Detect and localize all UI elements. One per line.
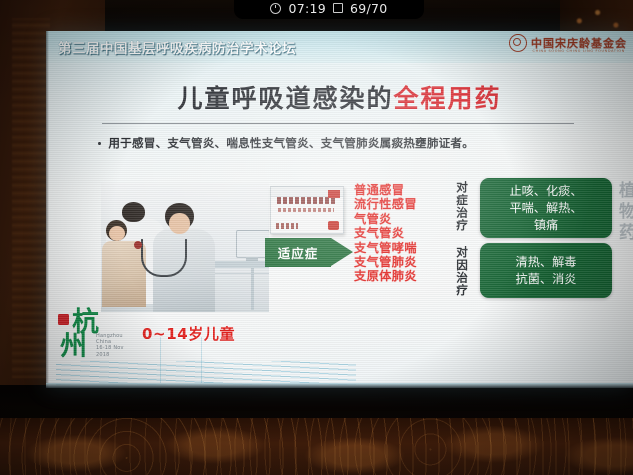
photo-parent-head — [122, 202, 145, 222]
osd-page-counter: 69/70 — [350, 1, 388, 16]
bullet-text: 用于感冒、支气管炎、喘息性支气管炎、支气管肺炎属痰热壅肺证者。 — [108, 135, 474, 151]
indication-arrow: 适应症 — [265, 238, 353, 267]
photo-desk-leg — [251, 268, 254, 310]
causal-treatment-label: 对因治疗 — [456, 246, 468, 306]
age-range-label: 0~14岁儿童 — [142, 323, 235, 344]
screen-bottom-edge — [46, 383, 633, 388]
stethoscope-icon — [141, 239, 187, 277]
list-item: 普通感冒 — [354, 183, 458, 197]
hangzhou-logo-en: Hangzhou China 16-18 Nov 2018 — [96, 333, 124, 358]
disease-list: 普通感冒 流行性感冒 气管炎 支气管炎 支气管哮喘 支气管肺炎 支原体肺炎 — [354, 183, 458, 284]
slide-title-black: 儿童呼吸道感染的 — [177, 84, 393, 113]
arrow-right-icon — [331, 238, 353, 266]
stethoscope-bell-icon — [134, 241, 142, 249]
indication-arrow-label: 适应症 — [265, 238, 331, 267]
red-seal-icon — [58, 314, 69, 325]
photo-doctor-face — [169, 213, 190, 234]
hangzhou-logo: 杭 州 Hangzhou China 16-18 Nov 2018 — [56, 313, 130, 369]
medicine-box-icon — [270, 186, 344, 234]
sponsor-logo: 中国宋庆龄基金会 CHINA SOONG CHING LING FOUNDATI… — [509, 34, 627, 52]
treatment-line: 平喘、解热、 — [509, 200, 582, 217]
osd-time: 07:19 — [288, 1, 326, 16]
causal-treatment-box: 清热、解毒 抗菌、消炎 — [480, 243, 612, 298]
slide-watermark: 植物药 — [613, 181, 633, 244]
medicine-box-accent-1 — [328, 190, 340, 198]
hangzhou-en-line: 2018 — [96, 352, 124, 358]
title-divider — [102, 123, 574, 124]
bullet-dot-icon — [98, 142, 101, 145]
medicine-box-name-text — [277, 197, 337, 204]
list-item: 流行性感冒 — [354, 197, 458, 211]
wall-left-texture — [12, 18, 50, 378]
slide-title-red: 全程用药 — [394, 84, 502, 113]
slide-title: 儿童呼吸道感染的全程用药 — [46, 79, 633, 115]
list-item: 支气管炎 — [354, 226, 458, 240]
medicine-box-brand — [276, 223, 298, 229]
clock-icon — [270, 3, 281, 14]
page-icon — [333, 3, 343, 13]
medicine-box-accent-2 — [328, 221, 339, 230]
carpet-pattern — [0, 418, 633, 475]
bullet-row: 用于感冒、支气管炎、喘息性支气管炎、支气管肺炎属痰热壅肺证者。 — [98, 135, 618, 151]
hangzhou-char-2: 州 — [60, 333, 87, 360]
sponsor-name-en: CHINA SOONG CHING LING FOUNDATION — [533, 49, 626, 53]
wave-decoration — [56, 361, 356, 385]
treatment-line: 清热、解毒 — [516, 254, 577, 271]
symptomatic-treatment-label: 对症治疗 — [456, 181, 468, 241]
conference-room-photo: 第三届中国基层呼吸疾病防治学术论坛 中国宋庆龄基金会 CHINA SOONG C… — [0, 0, 633, 475]
conference-title: 第三届中国基层呼吸疾病防治学术论坛 — [58, 37, 296, 57]
projector-osd: 07:19 69/70 — [234, 0, 424, 19]
projection-screen: 第三届中国基层呼吸疾病防治学术论坛 中国宋庆龄基金会 CHINA SOONG C… — [46, 31, 633, 388]
doctor-examining-child-photo — [101, 183, 269, 312]
list-item: 支气管哮喘 — [354, 241, 458, 255]
list-item: 气管炎 — [354, 212, 458, 226]
photo-child-body — [102, 241, 146, 307]
treatment-line: 抗菌、消炎 — [516, 271, 577, 288]
photo-child-face — [109, 226, 125, 241]
treatment-line: 镇痛 — [509, 217, 582, 234]
list-item: 支原体肺炎 — [354, 269, 458, 283]
list-item: 支气管肺炎 — [354, 255, 458, 269]
screen-left-edge — [46, 31, 49, 388]
medicine-box-subtext — [278, 208, 334, 212]
symptomatic-treatment-box: 止咳、化痰、 平喘、解热、 镇痛 — [480, 178, 612, 238]
hangzhou-en-line: 16-18 Nov — [96, 345, 124, 351]
foundation-seal-icon — [509, 34, 527, 52]
slide-header-band: 第三届中国基层呼吸疾病防治学术论坛 中国宋庆龄基金会 CHINA SOONG C… — [46, 31, 633, 63]
treatment-line: 止咳、化痰、 — [509, 183, 582, 200]
